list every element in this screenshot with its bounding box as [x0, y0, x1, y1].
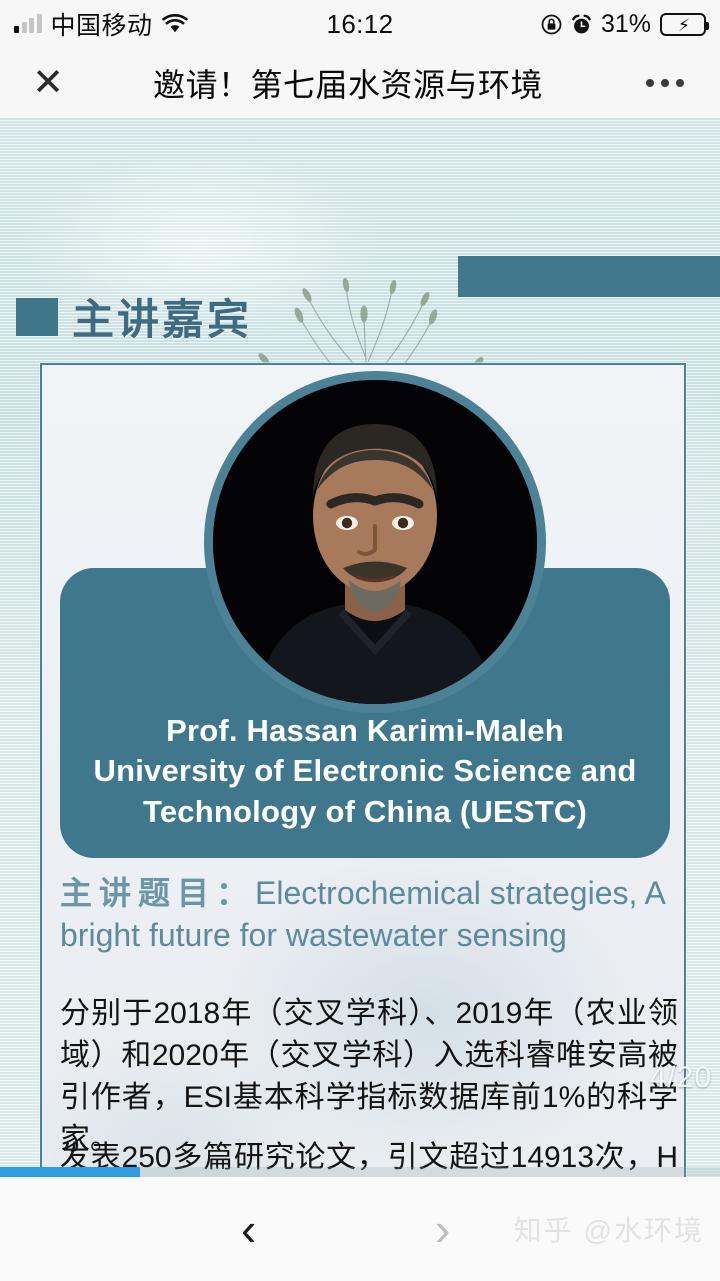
square-bullet-icon — [16, 298, 58, 336]
title-truncation-fade — [576, 60, 610, 106]
reading-progress-bar[interactable] — [0, 1167, 720, 1177]
dot-icon — [661, 79, 669, 87]
speaker-name: Prof. Hassan Karimi-Maleh — [166, 711, 564, 751]
lecture-title-line1: 主讲题目：Electrochemical strategies, A — [60, 873, 674, 915]
previous-page-button[interactable]: ‹ — [241, 1206, 256, 1252]
lecture-title-label: 主讲题目： — [60, 875, 255, 911]
section-heading-text: 主讲嘉宾 — [72, 286, 252, 347]
next-page-button[interactable]: › — [435, 1206, 450, 1252]
battery-charging-icon: ⚡ — [660, 13, 706, 36]
page-title-text: 邀请！第七届水资源与环境 — [153, 67, 543, 103]
avatar — [213, 380, 537, 704]
bottom-nav-bar: ‹ › 知乎 @水环境 — [0, 1177, 720, 1281]
speaker-affiliation-line1: University of Electronic Science and — [94, 751, 637, 791]
decorative-teal-band — [458, 256, 720, 297]
status-bar: 中国移动 16:12 — [0, 0, 720, 48]
clock-label: 16:12 — [0, 9, 720, 40]
speaker-card: Prof. Hassan Karimi-Maleh University of … — [40, 363, 686, 1177]
section-heading: 主讲嘉宾 — [16, 286, 252, 347]
lecture-title-line2: bright future for wastewater sensing — [60, 915, 674, 957]
page-title: 邀请！第七届水资源与环境 — [96, 60, 610, 106]
document-viewer[interactable]: 主讲嘉宾 — [0, 118, 720, 1177]
more-options-button[interactable] — [610, 79, 720, 87]
lecture-title-block: 主讲题目：Electrochemical strategies, A brigh… — [60, 873, 674, 956]
dot-icon — [676, 79, 684, 87]
dot-icon — [646, 79, 654, 87]
speaker-affiliation-line2: Technology of China (UESTC) — [143, 792, 587, 832]
wechat-nav-bar: ✕ 邀请！第七届水资源与环境 — [0, 48, 720, 118]
bio-paragraph-1: 分别于2018年（交叉学科）、2019年（农业领域）和2020年（交叉学科）入选… — [60, 993, 678, 1161]
watermark: 知乎 @水环境 — [514, 1209, 704, 1249]
close-button[interactable]: ✕ — [0, 64, 96, 102]
progress-fill — [0, 1167, 140, 1177]
phone-screen: 中国移动 16:12 — [0, 0, 720, 1281]
lecture-title-text-1: Electrochemical strategies, A — [255, 875, 666, 911]
speaker-portrait — [204, 371, 546, 713]
speaker-photo-icon — [213, 380, 537, 704]
page-indicator: 4/20 — [650, 1061, 712, 1095]
